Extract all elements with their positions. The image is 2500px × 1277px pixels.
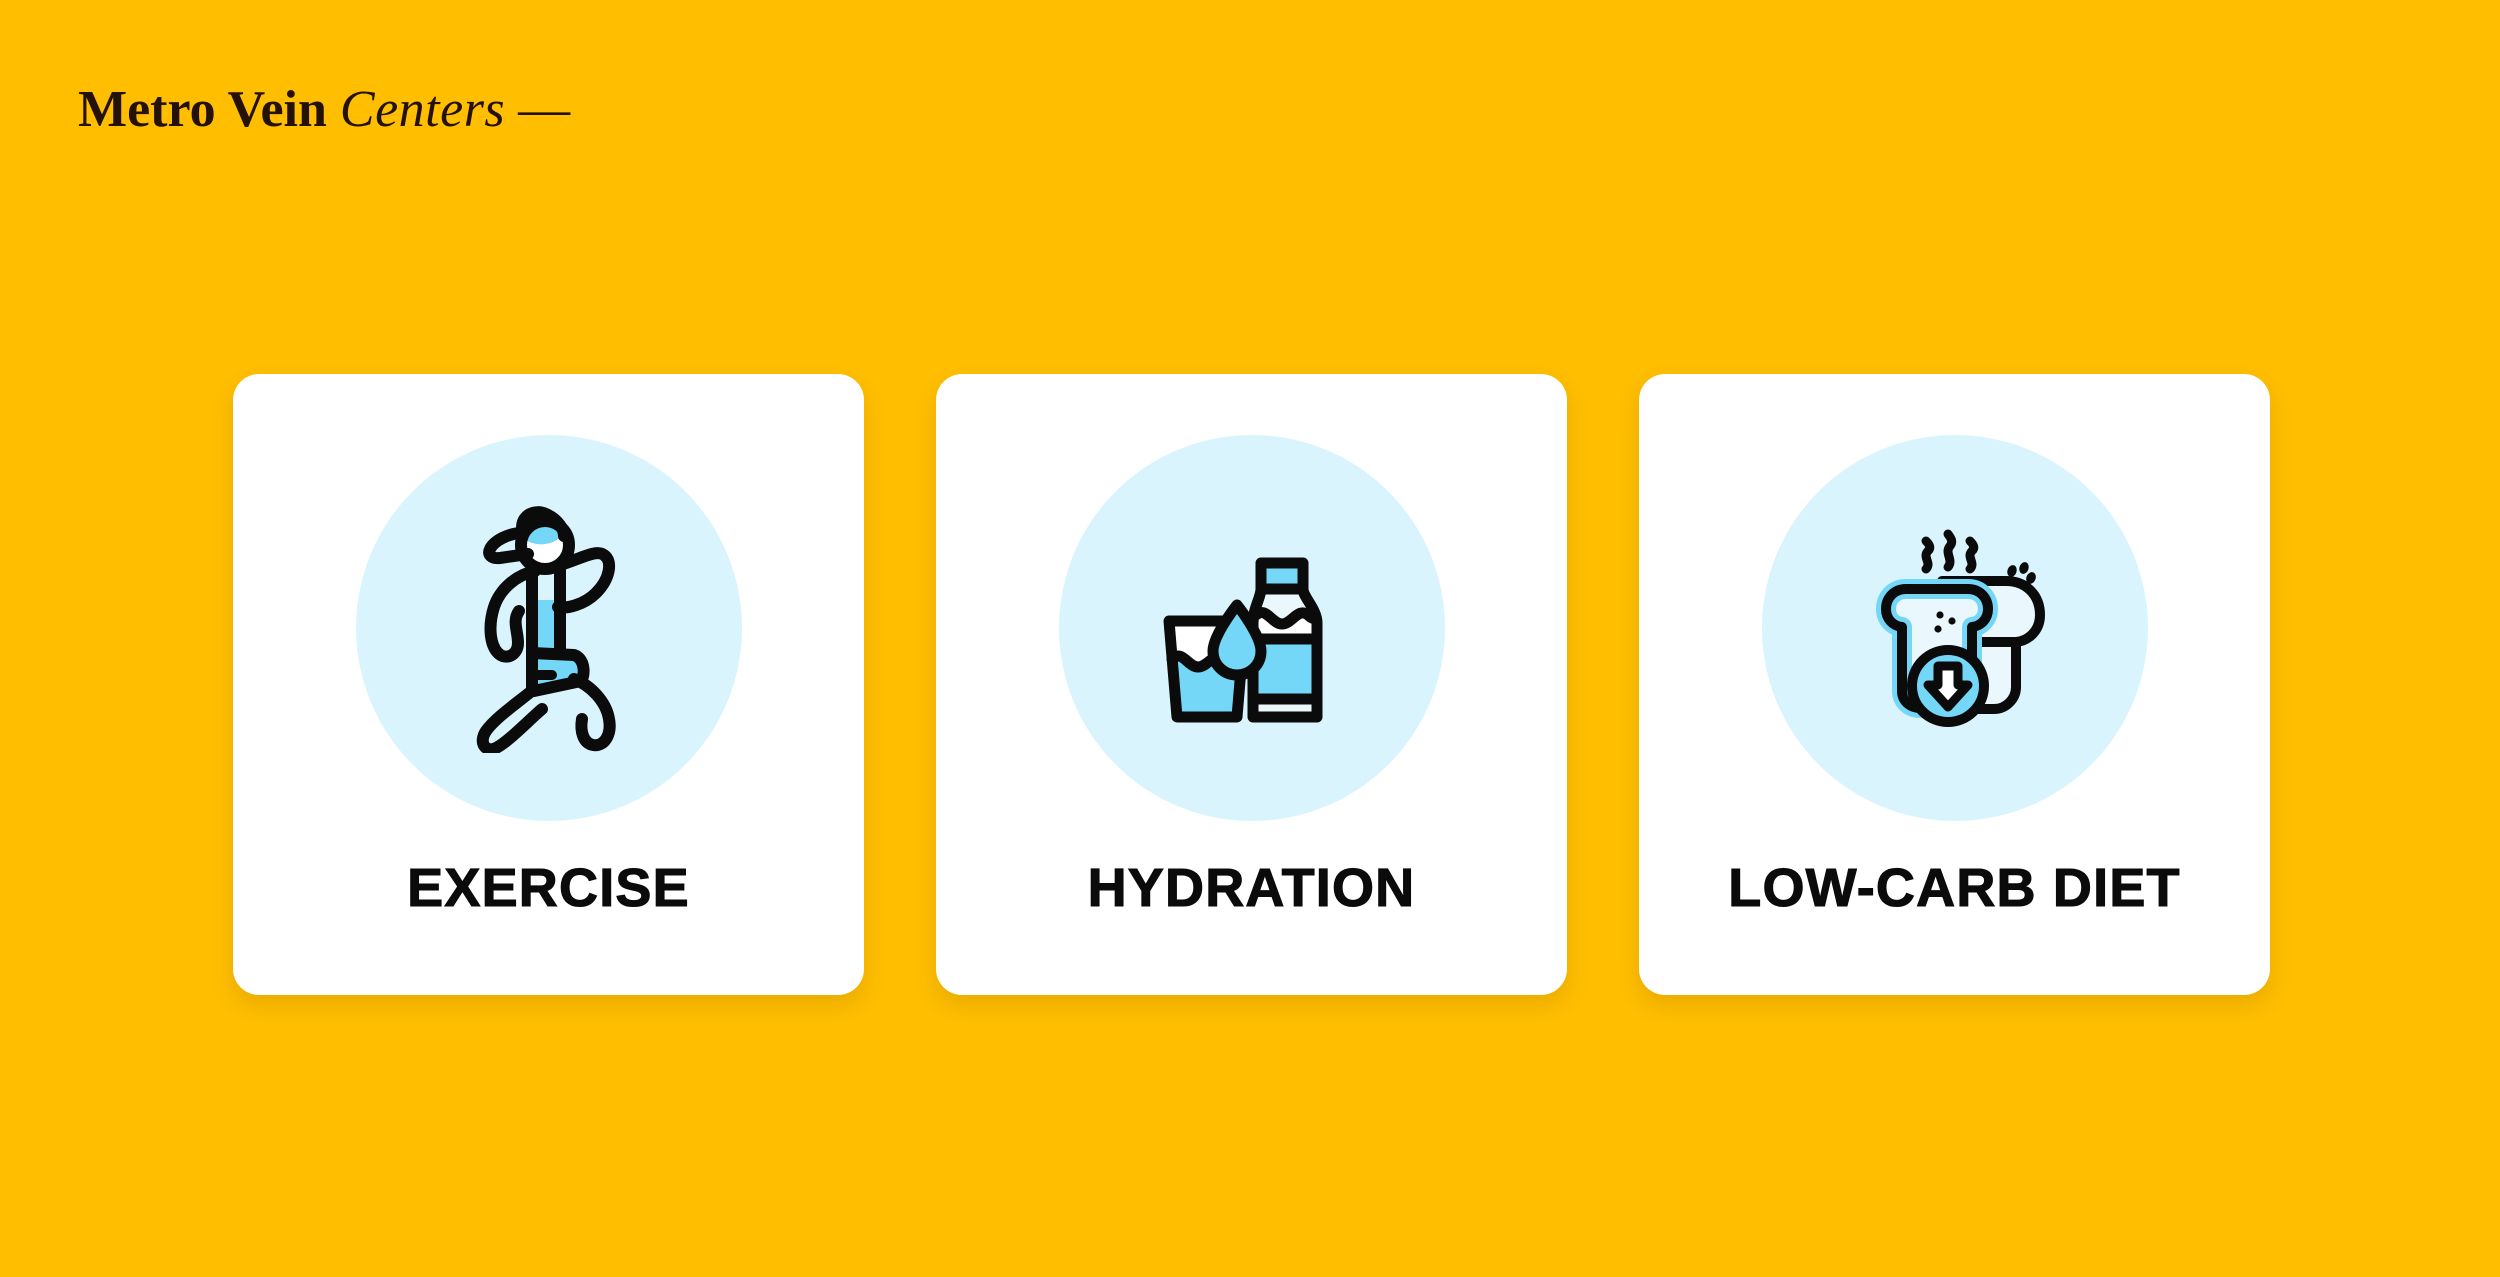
card-label-exercise: EXERCISE	[407, 861, 690, 915]
brand-name-bold: Metro Vein	[78, 81, 327, 138]
brand-logo: Metro Vein Centers —	[78, 84, 570, 136]
feature-card-row: EXERCISE	[233, 374, 2270, 996]
water-glass-bottle-icon	[1127, 503, 1377, 753]
brand-name-italic: Centers	[340, 81, 505, 138]
bread-decrease-icon	[1830, 503, 2080, 753]
icon-circle-exercise	[356, 435, 742, 821]
card-low-carb-diet[interactable]: LOW-CARB DIET	[1639, 374, 2270, 995]
card-label-hydration: HYDRATION	[1088, 861, 1416, 915]
card-exercise[interactable]: EXERCISE	[233, 374, 864, 995]
icon-circle-low-carb-diet	[1762, 435, 2148, 821]
card-hydration[interactable]: HYDRATION	[936, 374, 1567, 995]
card-label-low-carb-diet: LOW-CARB DIET	[1728, 861, 2180, 915]
brand-dash: —	[518, 81, 570, 138]
running-person-icon	[424, 503, 674, 753]
icon-circle-hydration	[1059, 435, 1445, 821]
